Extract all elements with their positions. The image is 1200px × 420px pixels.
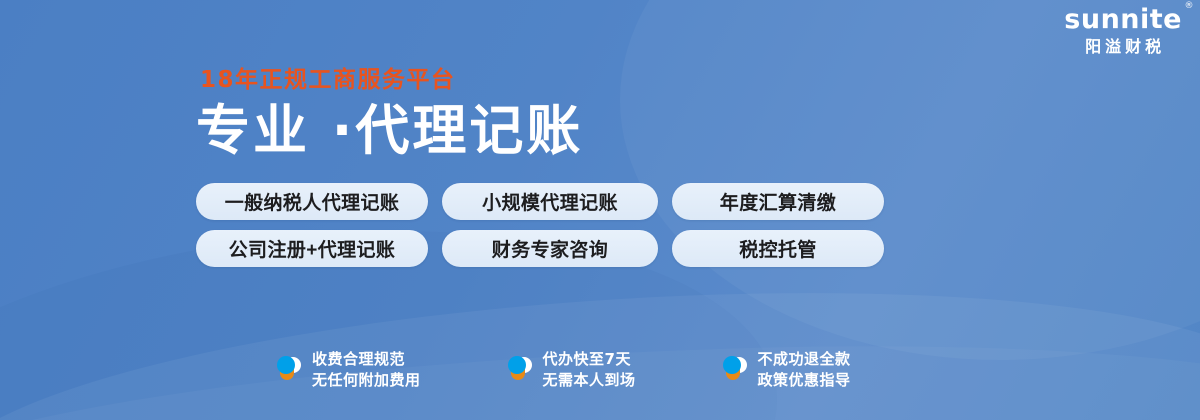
feature-line-2: 政策优惠指导 <box>758 370 851 392</box>
sun-cup-icon-dot <box>508 356 526 374</box>
logo-wordmark: sunnite ® <box>1064 6 1182 33</box>
sun-cup-icon <box>507 355 533 385</box>
sun-cup-icon <box>722 355 748 385</box>
feature-line-2: 无任何附加费用 <box>312 370 421 392</box>
registered-trademark-icon: ® <box>1185 2 1195 11</box>
service-pill[interactable]: 一般纳税人代理记账 <box>196 183 428 220</box>
feature-text: 不成功退全款 政策优惠指导 <box>758 349 851 393</box>
hero-headline: 专业 ·代理记账 <box>196 102 956 160</box>
feature-line-1: 收费合理规范 <box>312 349 421 371</box>
sun-cup-icon-dot <box>723 356 741 374</box>
sun-cup-icon <box>276 355 302 385</box>
service-pill[interactable]: 税控托管 <box>672 230 884 267</box>
service-pill[interactable]: 财务专家咨询 <box>442 230 658 267</box>
feature-line-1: 代办快至7天 <box>543 349 636 371</box>
feature-item: 收费合理规范 无任何附加费用 <box>276 349 421 393</box>
promo-banner: sunnite ® 阳溢财税 18年正规工商服务平台 专业 ·代理记账 一般纳税… <box>0 0 1200 420</box>
service-pill[interactable]: 年度汇算清缴 <box>672 183 884 220</box>
hero-content: 18年正规工商服务平台 专业 ·代理记账 一般纳税人代理记账 小规模代理记账 年… <box>196 68 956 267</box>
feature-text: 代办快至7天 无需本人到场 <box>543 349 636 393</box>
logo-subtitle: 阳溢财税 <box>1064 40 1182 56</box>
feature-item: 代办快至7天 无需本人到场 <box>507 349 636 393</box>
feature-line-1: 不成功退全款 <box>758 349 851 371</box>
feature-text: 收费合理规范 无任何附加费用 <box>312 349 421 393</box>
feature-line-2: 无需本人到场 <box>543 370 636 392</box>
service-pill-grid: 一般纳税人代理记账 小规模代理记账 年度汇算清缴 公司注册+代理记账 财务专家咨… <box>196 183 956 267</box>
hero-eyebrow: 18年正规工商服务平台 <box>200 68 956 93</box>
brand-logo[interactable]: sunnite ® 阳溢财税 <box>1064 6 1182 56</box>
service-pill[interactable]: 公司注册+代理记账 <box>196 230 428 267</box>
feature-item: 不成功退全款 政策优惠指导 <box>722 349 851 393</box>
logo-wordmark-text: sunnite <box>1064 4 1182 35</box>
service-pill[interactable]: 小规模代理记账 <box>442 183 658 220</box>
feature-strip: 收费合理规范 无任何附加费用 代办快至7天 无需本人到场 不成功退全款 <box>276 349 851 393</box>
decor-light-band <box>0 261 1200 420</box>
